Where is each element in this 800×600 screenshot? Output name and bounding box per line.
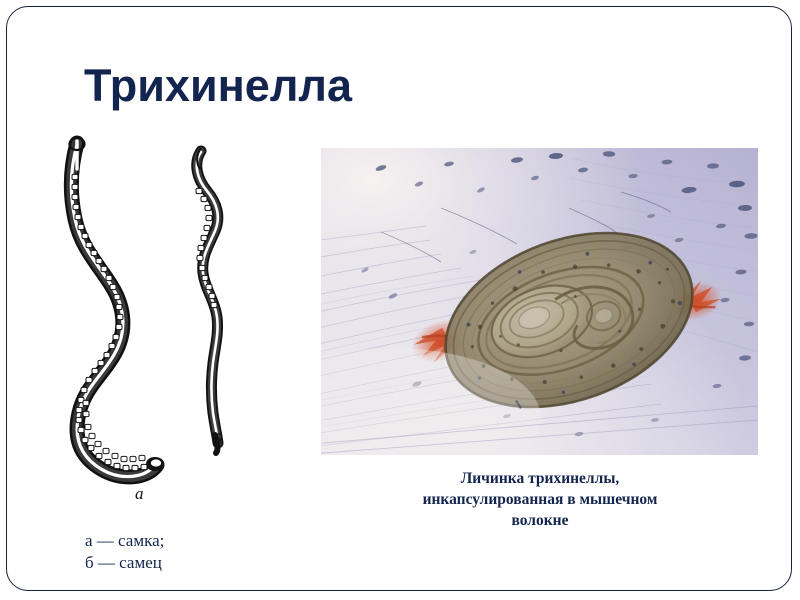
worm-drawing-figure [55,135,305,515]
caption-line-2: инкапсулированная в мышечном [370,489,710,510]
figure-label-female: а [135,484,144,504]
micrograph-photo [321,148,758,455]
legend-item-male: б — самец [85,552,164,574]
figure-legend: а — самка; б — самец [85,530,164,574]
slide: Трихинелла [0,0,800,600]
caption-line-1: Личинка трихинеллы, [370,468,710,489]
micrograph-caption: Личинка трихинеллы, инкапсулированная в … [370,468,710,531]
legend-item-female: а — самка; [85,530,164,552]
figure-label-male: б [213,430,222,450]
page-title: Трихинелла [84,60,352,112]
male-worm-drawing [196,148,218,453]
caption-line-3: волокне [370,510,710,531]
female-worm-drawing [70,138,165,477]
